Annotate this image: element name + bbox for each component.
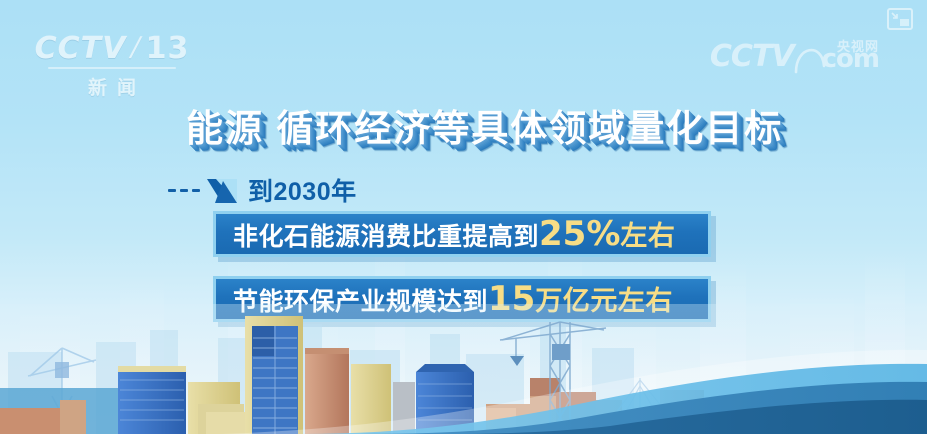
stat-banner-1-prefix: 非化石能源消费比重提高到: [233, 217, 539, 253]
subtitle-row: 到2030年: [168, 172, 357, 208]
stat-banner-1-suffix: 左右: [620, 214, 675, 253]
dashed-leader-icon: [168, 189, 200, 192]
page-title: 能源 循环经济等具体领域量化目标: [186, 98, 783, 152]
city-skyline-illustration: [0, 304, 927, 434]
cctv-logo-slash: /: [128, 34, 145, 64]
stat-banner-1-text: 非化石能源消费比重提高到 25% 左右: [233, 214, 675, 254]
stat-banner-1-number: 25%: [539, 214, 620, 254]
broadcast-screen: CCTV / 13 新闻 CCTV com 央视网 能源 循环经济等具体领域量化…: [0, 0, 927, 434]
cctv-13-logo-row: CCTV / 13: [42, 34, 182, 64]
watermark-arc-icon: [796, 42, 820, 72]
cctv-logo-subtitle: 新闻: [42, 73, 182, 100]
stat-banner-1: 非化石能源消费比重提高到 25% 左右: [213, 211, 711, 257]
cctv-wordmark: CCTV: [35, 34, 127, 64]
watermark-chinese-text: 央视网: [837, 40, 879, 53]
triangle-marker-icon: [207, 177, 237, 203]
cctv-13-logo: CCTV / 13 新闻: [42, 34, 182, 100]
cctv-logo-underline: [48, 67, 176, 69]
subtitle-text: 到2030年: [248, 172, 357, 208]
cctv-channel-number: 13: [146, 34, 190, 64]
cctv-com-watermark: CCTV com 央视网: [710, 42, 879, 72]
watermark-cctv-text: CCTV: [710, 42, 794, 72]
picture-in-picture-icon[interactable]: [887, 8, 913, 30]
